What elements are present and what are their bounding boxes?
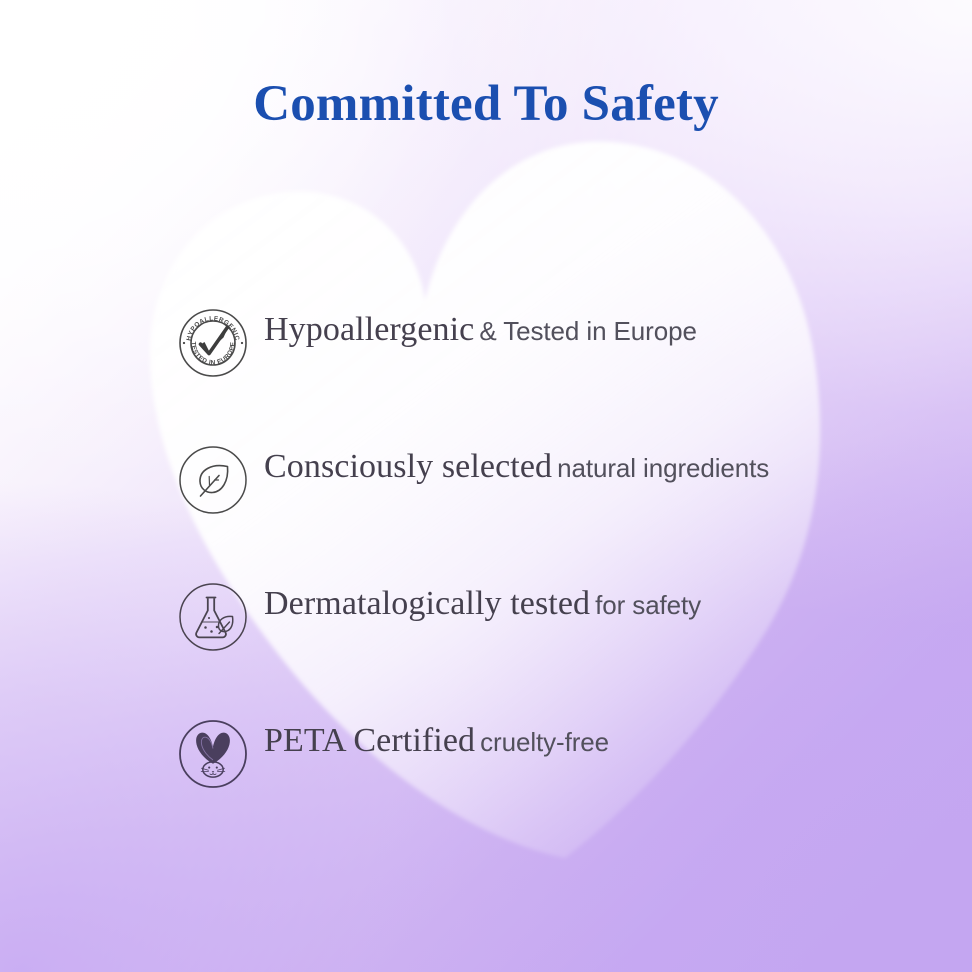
claim-row: HYPOALLERGENIC TESTED IN EUROPE Hypoalle… — [178, 300, 938, 437]
page-title: Committed To Safety — [0, 78, 972, 132]
claim-strong-text: PETA Certified — [264, 722, 475, 759]
leaf-icon — [178, 445, 248, 515]
claim-strong-text: Dermatalogically tested — [264, 585, 590, 622]
claim-rest-text: for safety — [595, 590, 701, 620]
svg-text:HYPOALLERGENIC: HYPOALLERGENIC — [186, 315, 241, 341]
claim-row: PETA Certifiedcruelty-free — [178, 711, 938, 848]
claim-row: Consciously selectednatural ingredients — [178, 437, 938, 574]
claim-rest-text: cruelty-free — [480, 727, 609, 757]
claim-text: PETA Certifiedcruelty-free — [264, 724, 609, 758]
flask-leaf-icon — [178, 582, 248, 652]
claim-text: Hypoallergenic& Tested in Europe — [264, 313, 697, 347]
claim-strong-text: Hypoallergenic — [264, 311, 474, 348]
claims-list: HYPOALLERGENIC TESTED IN EUROPE Hypoalle… — [178, 300, 938, 848]
claim-strong-text: Consciously selected — [264, 448, 552, 485]
committed-to-safety-graphic: Committed To Safety HYPOALLERGENIC TEST — [0, 0, 972, 972]
claim-text: Dermatalogically testedfor safety — [264, 587, 701, 621]
claim-row: Dermatalogically testedfor safety — [178, 574, 938, 711]
peta-bunny-icon — [178, 719, 248, 789]
claim-rest-text: & Tested in Europe — [479, 316, 696, 346]
claim-rest-text: natural ingredients — [557, 453, 769, 483]
hypoallergenic-badge-icon: HYPOALLERGENIC TESTED IN EUROPE — [178, 308, 248, 378]
claim-text: Consciously selectednatural ingredients — [264, 450, 769, 484]
